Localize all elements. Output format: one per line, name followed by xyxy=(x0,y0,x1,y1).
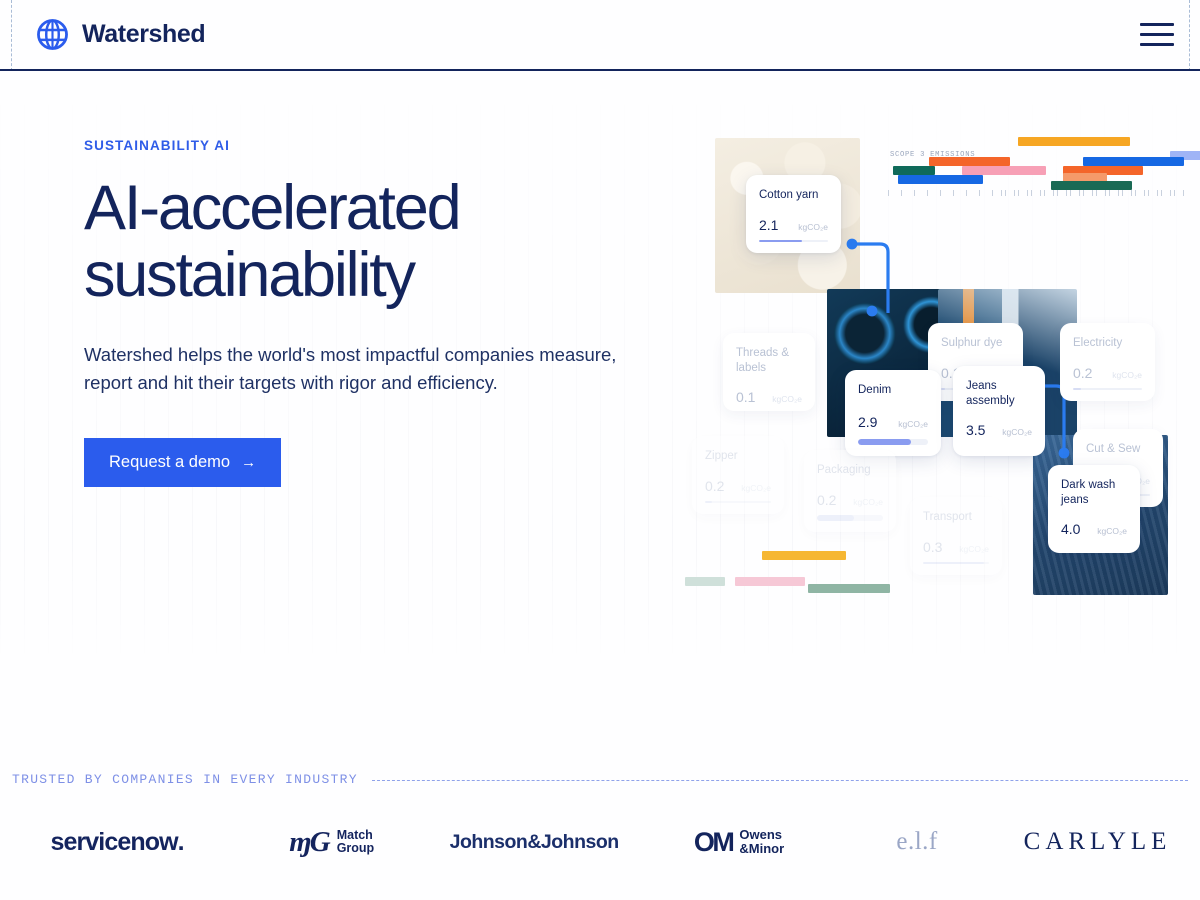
metric-card-progress-track xyxy=(759,240,828,242)
metric-card-value: 0.2 xyxy=(817,492,836,508)
metric-card-unit: kgCO₂e xyxy=(1002,427,1032,437)
metric-card-progress-track xyxy=(1073,388,1142,390)
metric-card-value-row: 0.2kgCO₂e xyxy=(1073,365,1142,381)
arrow-right-icon: → xyxy=(241,455,256,470)
metric-card-progress-track xyxy=(923,562,989,564)
metric-card-title: Cut & Sew xyxy=(1086,442,1150,457)
metric-card-unit: kgCO₂e xyxy=(798,222,828,232)
metric-card-value: 2.9 xyxy=(858,414,877,430)
decorative-color-bar xyxy=(735,577,805,586)
metric-card-progress-fill xyxy=(759,240,802,242)
metric-card[interactable]: Cotton yarn2.1kgCO₂e xyxy=(746,175,841,253)
match-group-wordmark: Match Group xyxy=(337,829,375,856)
hamburger-menu-icon[interactable] xyxy=(1140,23,1174,46)
metric-card-value: 0.1 xyxy=(736,389,755,405)
metric-card-value: 0.2 xyxy=(705,478,724,494)
hero-illustration: SCOPE 3 EMISSIONS Cotton yarn2.1kgCO₂eTh… xyxy=(684,133,1184,596)
match-group-line-2: Group xyxy=(337,841,375,855)
customer-logos: servicenow. ɱG Match Group Johnson&Johns… xyxy=(0,812,1200,872)
metric-card-progress-track xyxy=(817,515,883,521)
request-demo-label: Request a demo xyxy=(109,453,230,472)
metric-card[interactable]: Zipper0.2kgCO₂e xyxy=(692,436,784,514)
hero-title-line-2: sustainability xyxy=(84,240,414,310)
metric-card-unit: kgCO₂e xyxy=(1112,370,1142,380)
logo-carlyle: CARLYLE xyxy=(995,812,1200,872)
match-group-mark-icon: ɱG xyxy=(289,826,329,859)
metric-card-title: Packaging xyxy=(817,463,883,478)
metric-card-value-row: 2.1kgCO₂e xyxy=(759,217,828,233)
owens-minor-line-2: &Minor xyxy=(739,841,784,856)
metric-card-value: 0.2 xyxy=(1073,365,1092,381)
owens-minor-mark-icon: OM xyxy=(694,827,733,858)
metric-card-progress-fill xyxy=(817,515,854,521)
metric-card-title: Electricity xyxy=(1073,336,1142,351)
match-group-line-1: Match xyxy=(337,828,373,842)
metric-card-unit: kgCO₂e xyxy=(741,483,771,493)
metric-card-value-row: 0.2kgCO₂e xyxy=(705,478,771,494)
menu-bar-2 xyxy=(1140,33,1174,36)
hero-eyebrow: SUSTAINABILITY AI xyxy=(84,138,674,153)
brand-logo-link[interactable]: Watershed xyxy=(36,18,205,51)
metric-card[interactable]: Transport0.3kgCO₂e xyxy=(910,497,1002,575)
metric-card-value-row: 2.9kgCO₂e xyxy=(858,414,928,430)
logo-owens-and-minor: OM Owens &Minor xyxy=(639,812,839,872)
metric-card-progress-track xyxy=(858,439,928,445)
metric-card-unit: kgCO₂e xyxy=(853,497,883,507)
metric-card-unit: kgCO₂e xyxy=(898,419,928,429)
owens-minor-line-1: Owens xyxy=(739,827,782,842)
metric-card-title: Dark wash jeans xyxy=(1061,478,1127,507)
brand-name: Watershed xyxy=(82,20,205,49)
owens-minor-wordmark: Owens &Minor xyxy=(739,828,784,856)
metric-card-title: Jeans assembly xyxy=(966,379,1032,408)
logo-match-group: ɱG Match Group xyxy=(234,812,429,872)
logo-johnson-and-johnson: Johnson&Johnson xyxy=(429,812,639,872)
trusted-by-divider xyxy=(372,780,1188,781)
metric-card-progress-fill xyxy=(941,388,945,390)
metric-card[interactable]: Denim2.9kgCO₂e xyxy=(845,370,941,456)
metric-card-value-row: 4.0kgCO₂e xyxy=(1061,521,1127,537)
metric-card-title: Sulphur dye xyxy=(941,336,1010,351)
metric-card-title: Cotton yarn xyxy=(759,188,828,203)
metric-card-progress-track xyxy=(705,501,771,503)
metric-card-title: Transport xyxy=(923,510,989,525)
metric-card-value: 0.3 xyxy=(923,539,942,555)
hero-copy: SUSTAINABILITY AI AI-accelerated sustain… xyxy=(84,138,674,487)
globe-icon xyxy=(36,18,69,51)
metric-card-title: Denim xyxy=(858,383,928,398)
page-title: AI-accelerated sustainability xyxy=(84,175,674,309)
metric-card-title: Zipper xyxy=(705,449,771,464)
trusted-by-label: TRUSTED BY COMPANIES IN EVERY INDUSTRY xyxy=(12,772,358,787)
decorative-color-bar xyxy=(685,577,725,586)
trusted-by-strip: TRUSTED BY COMPANIES IN EVERY INDUSTRY xyxy=(12,772,1188,787)
logo-servicenow-text: servicenow xyxy=(50,828,177,857)
decorative-color-bar xyxy=(762,551,846,560)
logo-servicenow: servicenow. xyxy=(0,812,234,872)
metric-card[interactable]: Jeans assembly3.5kgCO₂e xyxy=(953,366,1045,456)
metric-card-value-row: 0.3kgCO₂e xyxy=(923,539,989,555)
site-header: Watershed xyxy=(0,0,1200,71)
metric-card-unit: kgCO₂e xyxy=(959,544,989,554)
hero-title-line-1: AI-accelerated xyxy=(84,173,459,243)
metric-card[interactable]: Threads & labels0.1kgCO₂e xyxy=(723,333,815,411)
metric-card-value-row: 0.2kgCO₂e xyxy=(817,492,883,508)
decorative-color-bar xyxy=(808,584,890,593)
metric-card-progress-fill xyxy=(705,501,712,503)
metric-card-unit: kgCO₂e xyxy=(1097,526,1127,536)
menu-bar-3 xyxy=(1140,43,1174,46)
metric-card-title: Threads & labels xyxy=(736,346,802,375)
metric-card-value: 2.1 xyxy=(759,217,778,233)
metric-card-unit: kgCO₂e xyxy=(772,394,802,404)
metric-card[interactable]: Packaging0.2kgCO₂e xyxy=(804,450,896,532)
menu-bar-1 xyxy=(1140,23,1174,26)
metric-card[interactable]: Dark wash jeans4.0kgCO₂e xyxy=(1048,465,1140,553)
metric-card-progress-fill xyxy=(1073,388,1081,390)
metric-card[interactable]: Electricity0.2kgCO₂e xyxy=(1060,323,1155,401)
logo-elf-beauty: e.l.f xyxy=(839,812,995,872)
hero-subtitle: Watershed helps the world's most impactf… xyxy=(84,341,649,397)
metric-card-value: 4.0 xyxy=(1061,521,1080,537)
request-demo-button[interactable]: Request a demo → xyxy=(84,438,281,487)
logo-servicenow-dot: . xyxy=(178,828,184,857)
metric-card-progress-fill xyxy=(858,439,911,445)
metric-card-value: 3.5 xyxy=(966,422,985,438)
landing-page: Watershed SUSTAINABILITY AI AI-accelerat… xyxy=(0,0,1200,900)
metric-card-progress-fill xyxy=(923,562,984,564)
metric-card-value-row: 3.5kgCO₂e xyxy=(966,422,1032,438)
metric-card-value-row: 0.1kgCO₂e xyxy=(736,389,802,405)
